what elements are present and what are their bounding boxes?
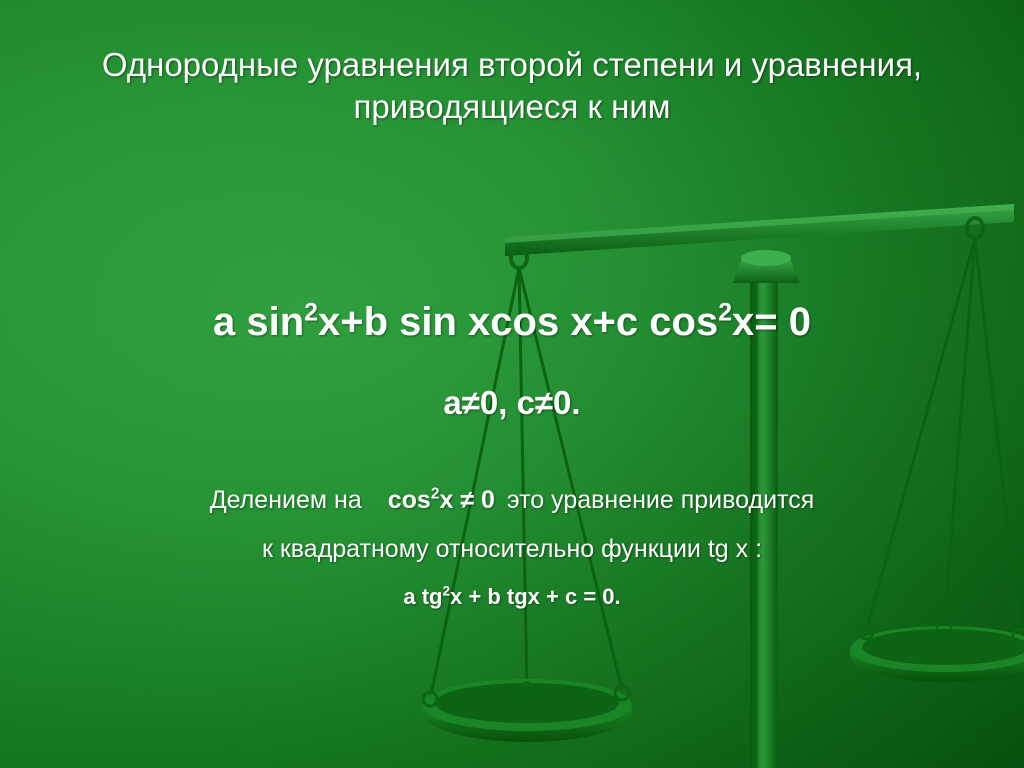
main-equation-part1: a sin (213, 300, 304, 344)
body-line3-base: a tg (403, 584, 442, 609)
body-line3-sup: 2 (442, 584, 450, 599)
body-line-3: a tg2x + b tgx + c = 0. (30, 582, 994, 612)
slide-content: Однородные уравнения второй степени и ур… (0, 0, 1024, 768)
body-line-1: Делением наcos2x ≠ 0это уравнение привод… (30, 483, 994, 517)
main-equation-sup1: 2 (304, 300, 318, 327)
slide-title: Однородные уравнения второй степени и ур… (40, 44, 984, 128)
main-equation-sup2: 2 (718, 300, 732, 327)
body-line3-tail: x + b tgx + c = 0. (450, 584, 621, 609)
main-equation: a sin2x+b sin xcos x+c cos2x= 0 (20, 296, 1004, 348)
body-line1-suffix: это уравнение приводится (507, 486, 814, 514)
body-line-2: к квадратному относительно функции tg x … (30, 532, 994, 566)
body-line1-formula-tail: x ≠ 0 (439, 486, 494, 514)
slide: Однородные уравнения второй степени и ур… (0, 0, 1024, 768)
main-equation-part2: x+b sin xcos x+c cos (318, 300, 718, 344)
body-line1-prefix: Делением на (210, 486, 362, 514)
equation-condition: a≠0, c≠0. (20, 382, 1004, 424)
main-equation-part3: x= 0 (732, 300, 811, 344)
body-line1-formula-base: cos (388, 486, 431, 514)
